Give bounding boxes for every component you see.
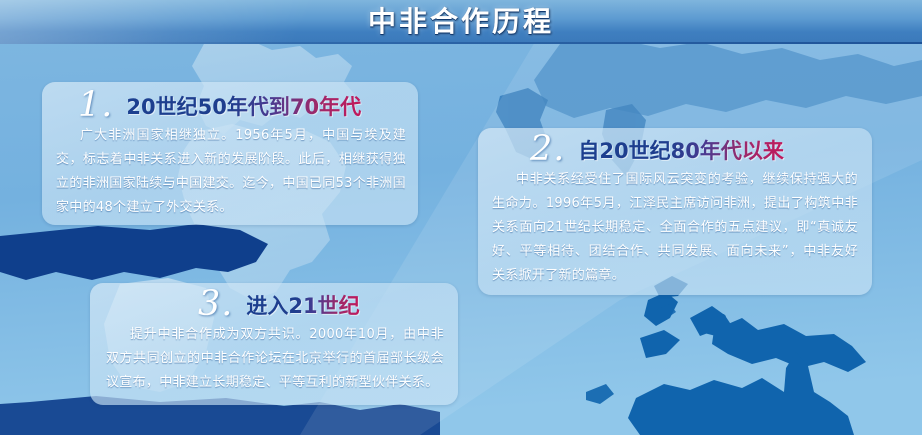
page-title: 中非合作历程	[0, 3, 922, 43]
panel-2-heading: 自20世纪80年代以来	[578, 136, 783, 166]
infographic-root: 中非合作历程 1. 20世纪50年代到70年代 广大非洲国家相继独立。1956年…	[0, 0, 922, 435]
panel-2-heading-row: 2. 自20世纪80年代以来	[478, 128, 872, 166]
milestone-panel-1: 1. 20世纪50年代到70年代 广大非洲国家相继独立。1956年5月，中国与埃…	[42, 82, 418, 225]
panel-3-heading-row: 3. 进入21世纪	[90, 283, 458, 321]
panel-2-number: 2.	[530, 132, 565, 166]
milestone-panel-2: 2. 自20世纪80年代以来 中非关系经受住了国际风云突变的考验，继续保持强大的…	[478, 128, 872, 295]
milestone-panel-3: 3. 进入21世纪 提升中非合作成为双方共识。2000年10月，由中非双方共同创…	[90, 283, 458, 405]
panel-3-number: 3.	[198, 287, 233, 321]
panel-1-heading: 20世纪50年代到70年代	[126, 92, 361, 122]
panel-1-body: 广大非洲国家相继独立。1956年5月，中国与埃及建交，标志着中非关系进入新的发展…	[42, 122, 418, 220]
panel-3-body: 提升中非合作成为双方共识。2000年10月，由中非双方共同创立的中非合作论坛在北…	[90, 321, 458, 395]
panel-2-body: 中非关系经受住了国际风云突变的考验，继续保持强大的生命力。1996年5月，江泽民…	[478, 166, 872, 288]
panel-3-heading: 进入21世纪	[246, 291, 359, 321]
panel-1-number: 1.	[78, 88, 113, 122]
panel-1-heading-row: 1. 20世纪50年代到70年代	[42, 82, 418, 122]
